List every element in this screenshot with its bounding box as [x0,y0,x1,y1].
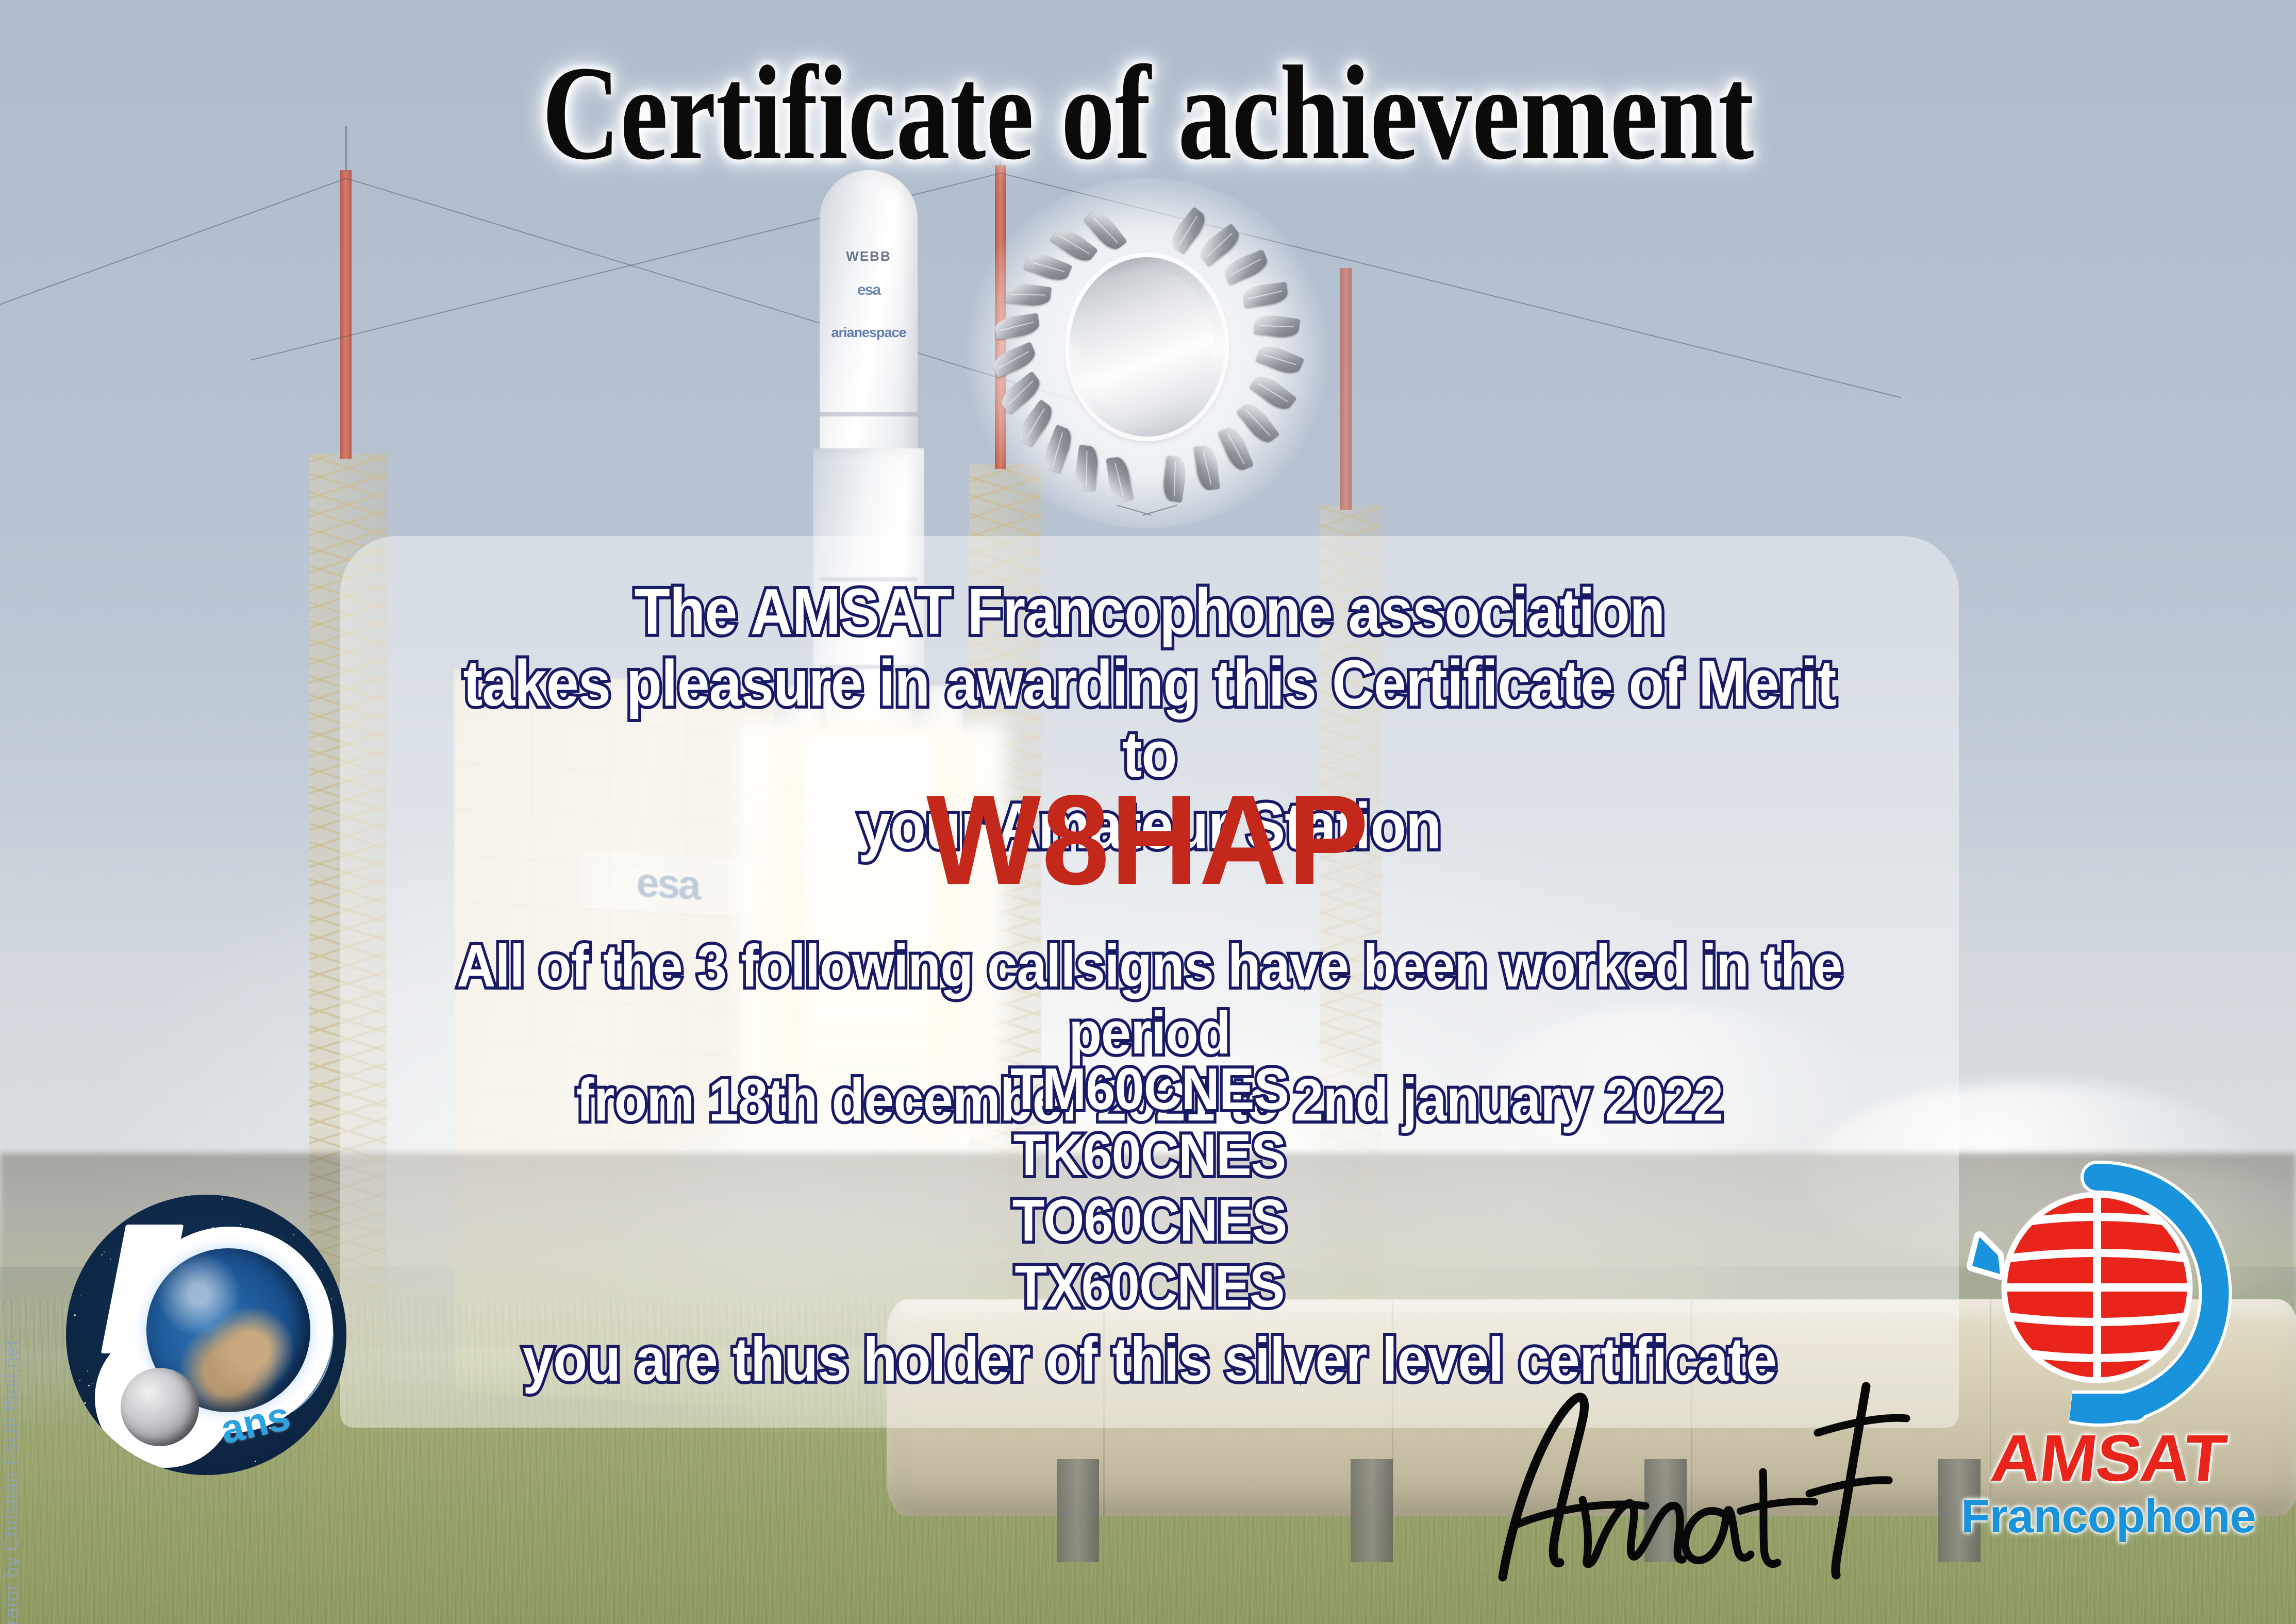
amsat-subtitle: Francophone [1954,1493,2263,1540]
cnes-logo-disc: ans [66,1195,346,1475]
duct-pier [1057,1459,1099,1562]
antenna-mast-far-right [1340,268,1352,510]
star [331,1298,332,1300]
star [331,1404,332,1405]
seal-medallion [1070,257,1224,437]
star [80,1295,81,1296]
star [255,1461,257,1463]
award-line: The AMSAT Francophone association [430,576,1869,648]
page-title: Certificate of achievement [229,45,2066,180]
rocket-esa-logo: esa [857,281,880,299]
star [326,1402,327,1402]
worked-callsign-list: TM60CNES TK60CNES TO60CNES TX60CNES [430,1057,1869,1320]
star [95,1199,95,1199]
star [321,1269,322,1270]
generator-credit: 2022 - Certificate Generator by Christia… [1,1340,23,1624]
star [334,1225,336,1227]
star [135,1198,136,1199]
star [343,1243,345,1245]
star [74,1314,76,1316]
cnes-60-years-logo: ans [57,1185,356,1484]
rocket-arianespace-logo: arianespace [831,325,906,341]
star [79,1380,81,1382]
webb-payload-label: WEBB [846,248,891,264]
star [340,1474,341,1475]
amsat-wordmark: AMSAT [1944,1426,2273,1492]
star [343,1396,344,1398]
antenna-mast-left [340,170,352,459]
amsat-francophone-logo: AMSAT Francophone [1954,1160,2263,1562]
amsat-red-globe-icon [2001,1192,2193,1383]
signature [1454,1371,1918,1593]
star [326,1288,327,1290]
seal-medallion-inner [1080,268,1213,426]
star [215,1466,216,1466]
star [106,1449,107,1450]
star [87,1370,89,1372]
wreath-stem [1116,482,1178,511]
star [84,1402,86,1404]
star [201,1199,202,1200]
star [293,1234,295,1236]
star [88,1385,90,1386]
star [343,1284,344,1285]
duct-pier [1351,1459,1393,1562]
fairing-band [820,412,918,416]
recipient-callsign: W8HAP [57,776,2238,903]
star [92,1383,93,1384]
worked-callsign: TO60CNES [430,1188,1869,1254]
moon-icon [121,1368,199,1446]
star [342,1294,344,1296]
worked-callsign: TK60CNES [430,1123,1869,1188]
laurel-wreath-icon [982,198,1312,508]
worked-line: All of the 3 following callsigns have be… [430,933,1869,1067]
star [222,1198,223,1200]
worked-callsign: TM60CNES [430,1057,1869,1123]
worked-callsign: TX60CNES [430,1254,1869,1320]
star [85,1241,86,1242]
certificate-canvas: esa WEBB esa arianespace [0,0,2296,1624]
